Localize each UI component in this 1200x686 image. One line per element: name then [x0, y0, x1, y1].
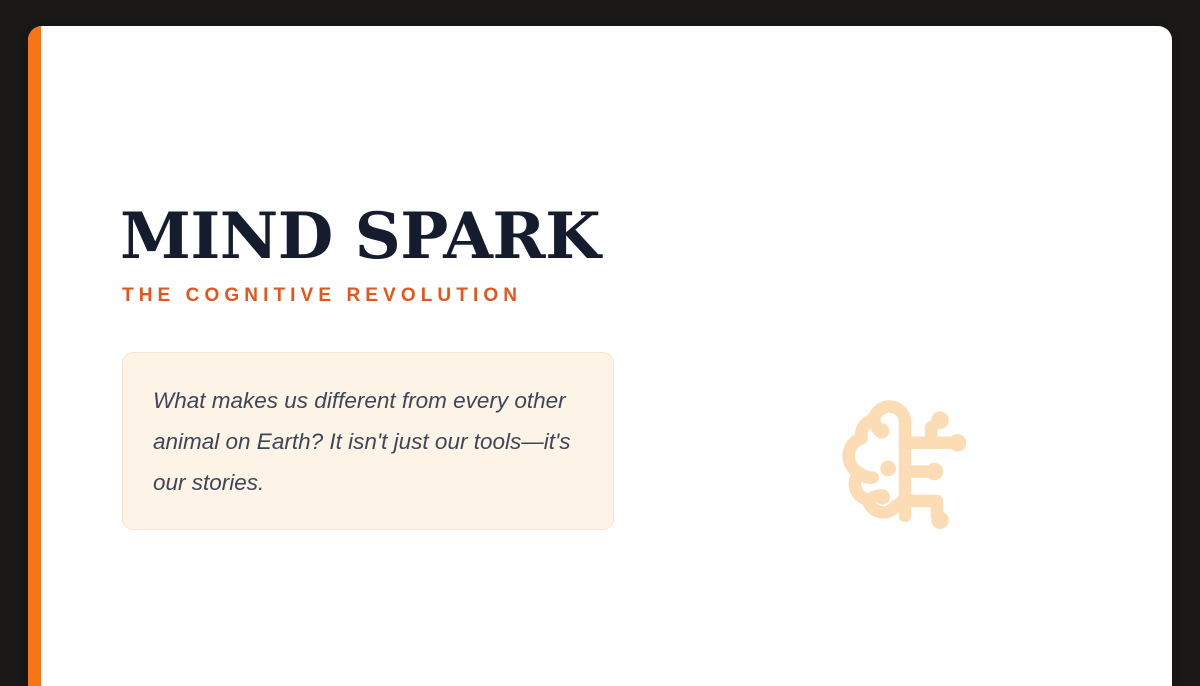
slide-card: MIND SPARK THE COGNITIVE REVOLUTION What… [28, 26, 1172, 686]
text-column: MIND SPARK THE COGNITIVE REVOLUTION What… [120, 26, 760, 686]
page-title: MIND SPARK [120, 204, 600, 269]
subtitle-eyebrow: THE COGNITIVE REVOLUTION [122, 285, 522, 307]
quote-text: What makes us different from every other… [123, 380, 613, 503]
quote-card: What makes us different from every other… [122, 352, 614, 530]
card-body: MIND SPARK THE COGNITIVE REVOLUTION What… [41, 26, 1172, 686]
accent-rail [28, 26, 41, 686]
brain-circuit-glyph [830, 394, 980, 544]
slide-root: MIND SPARK THE COGNITIVE REVOLUTION What… [0, 0, 1200, 675]
brain-circuit-icon [805, 374, 1005, 564]
